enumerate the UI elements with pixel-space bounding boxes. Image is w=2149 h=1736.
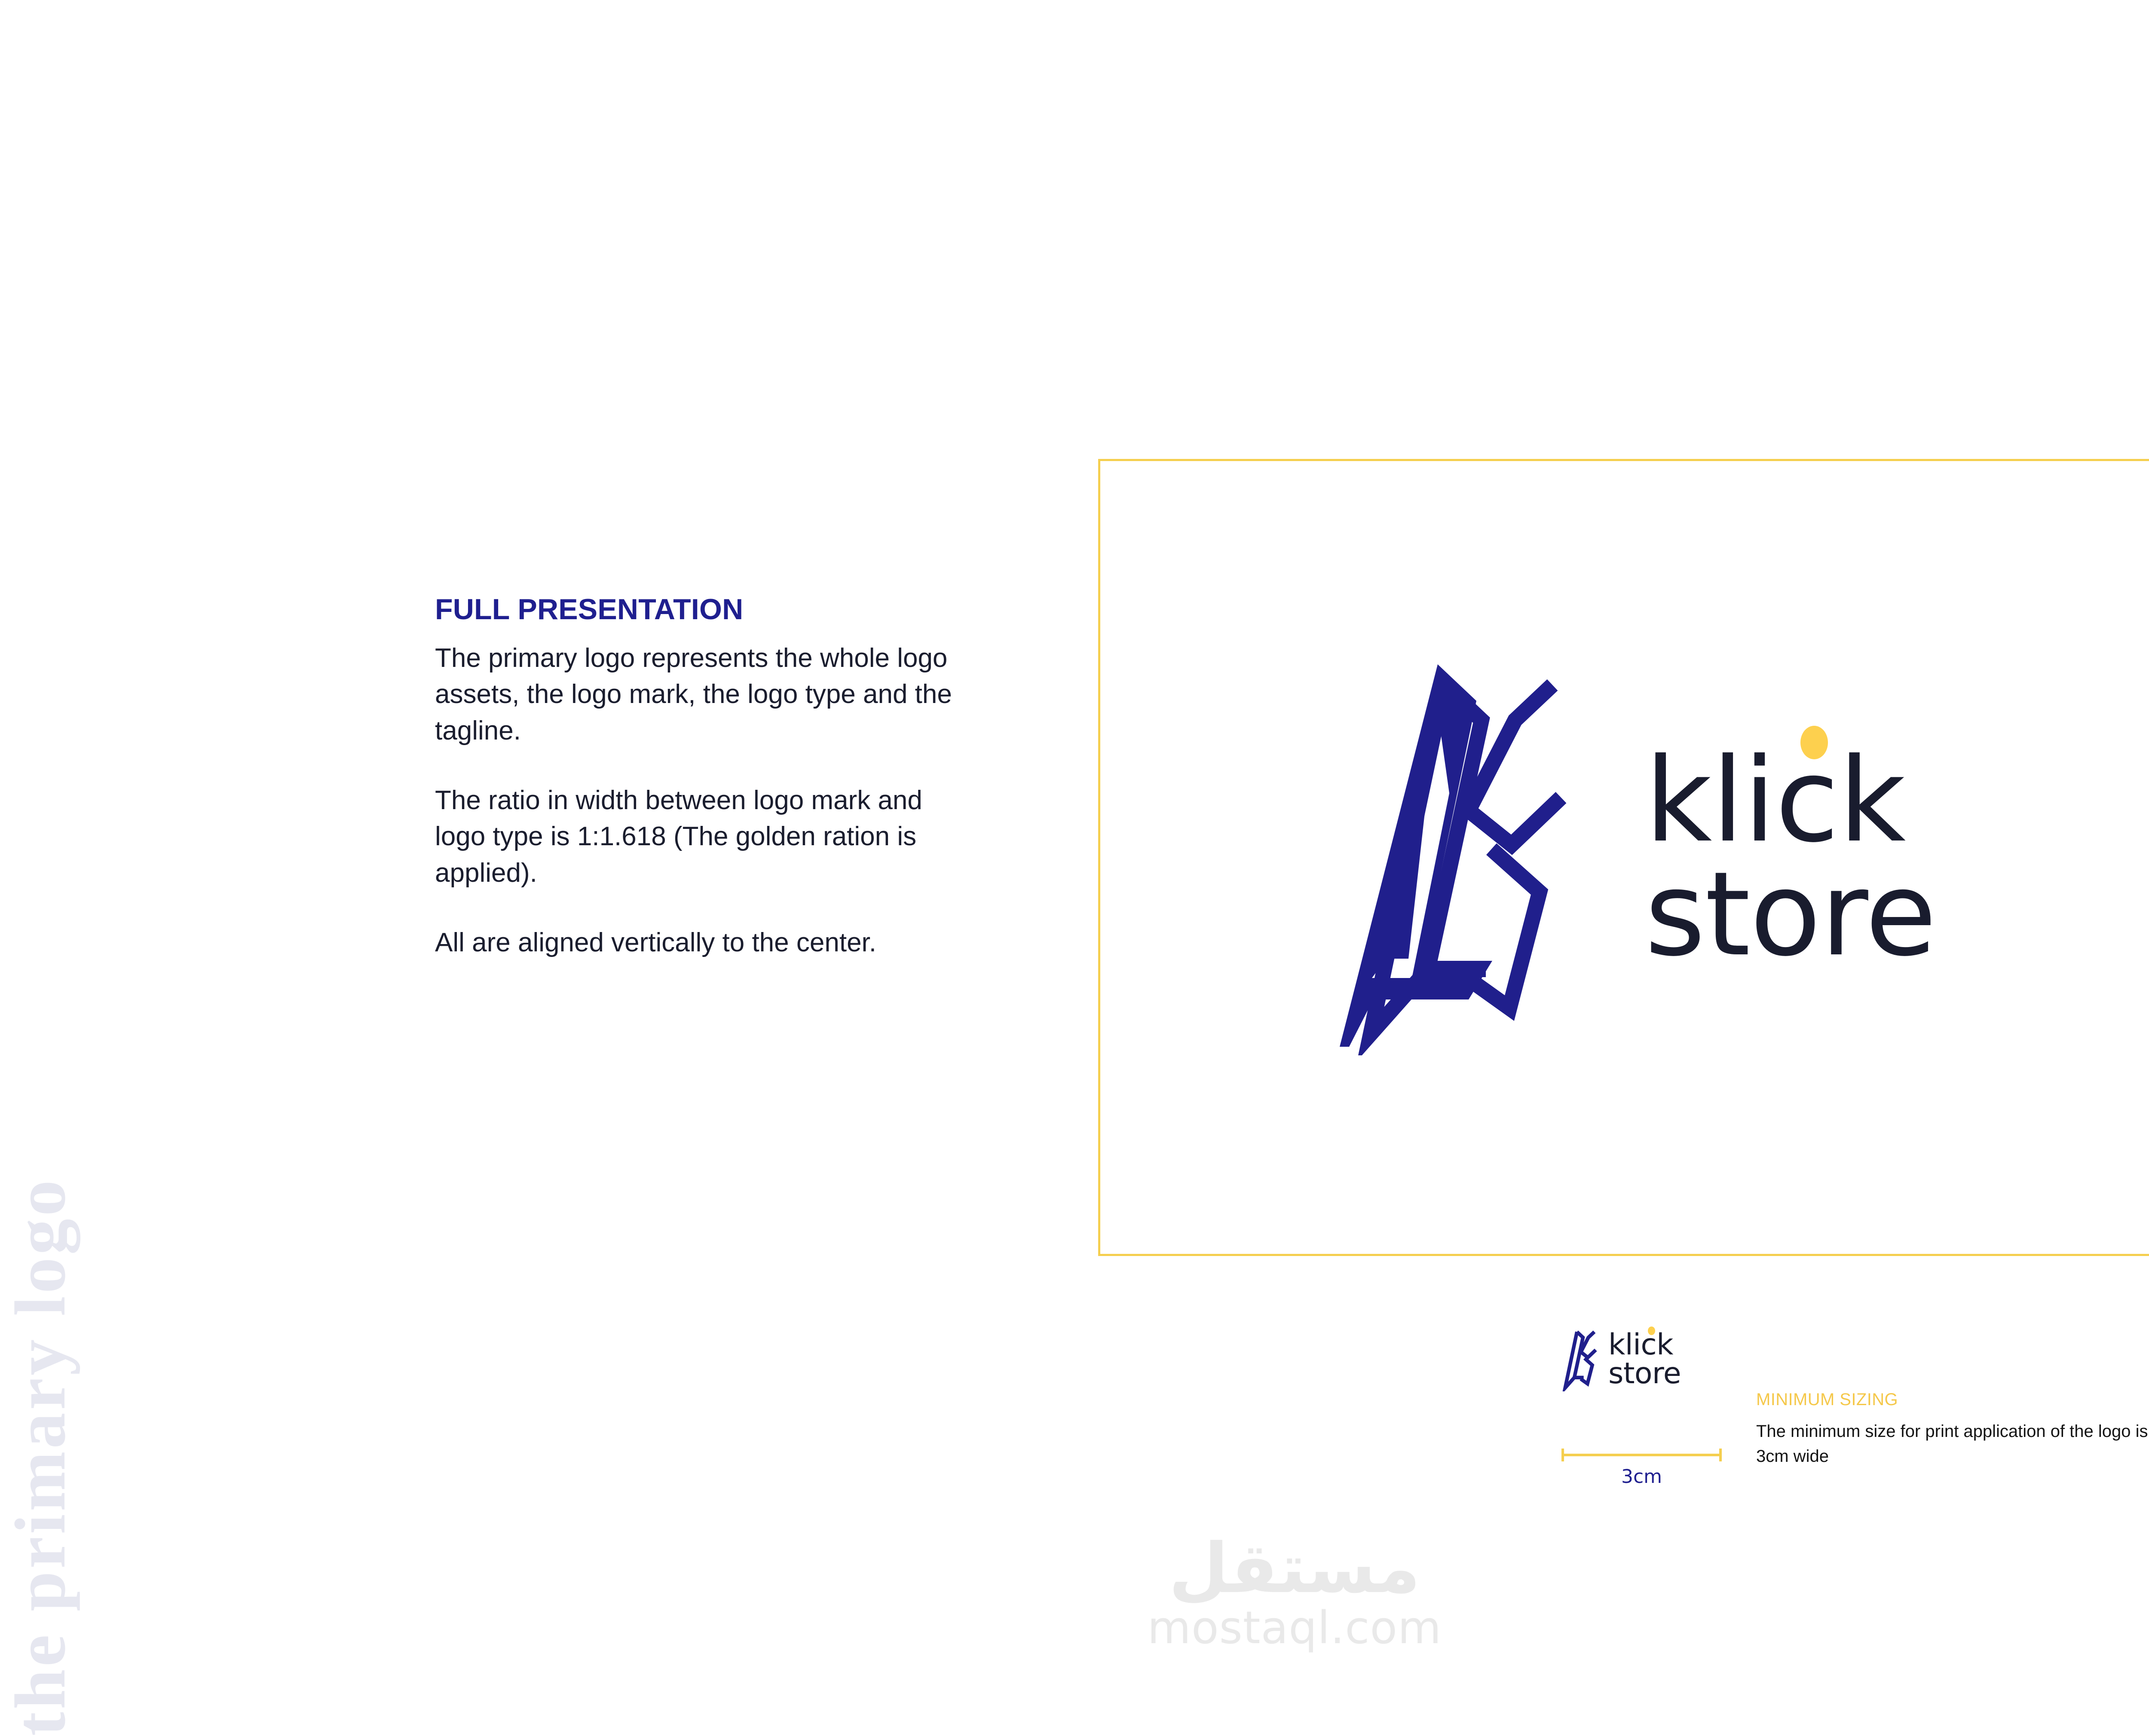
measurement-tick-left <box>1561 1449 1564 1461</box>
min-wordmark-line-store: store <box>1608 1360 1681 1388</box>
min-wordmark-line-klick: klick <box>1608 1331 1681 1360</box>
minimum-size-logo-lockup: klick store <box>1560 1328 1681 1391</box>
primary-wordmark: klick store <box>1645 744 1936 971</box>
description-column: FULL PRESENTATION The primary logo repre… <box>435 593 979 961</box>
description-paragraph-3: All are aligned vertically to the center… <box>435 925 979 961</box>
minimum-sizing-heading: MINIMUM SIZING <box>1756 1390 2149 1409</box>
primary-logo-lockup: klick store <box>1100 461 2149 1254</box>
measurement-ruler: 3cm <box>1561 1446 1722 1485</box>
minimum-size-wordmark: klick store <box>1608 1331 1681 1388</box>
primary-logo-showcase-frame: klick store <box>1098 459 2149 1256</box>
wordmark-i-dot-icon <box>1800 726 1828 759</box>
wordmark-line-klick: klick <box>1645 744 1936 858</box>
watermark-arabic-text: مستقل <box>1123 1534 1466 1603</box>
klick-k-mark-icon <box>1340 660 1580 1055</box>
minimum-sizing-text: MINIMUM SIZING The minimum size for prin… <box>1756 1390 2149 1469</box>
minimum-sizing-description: The minimum size for print application o… <box>1756 1419 2149 1469</box>
side-running-head: the primary logo <box>4 275 103 1006</box>
mostaql-watermark: مستقل mostaql.com <box>1123 1534 1466 1650</box>
description-paragraph-1: The primary logo represents the whole lo… <box>435 640 979 749</box>
description-paragraph-2: The ratio in width between logo mark and… <box>435 782 979 891</box>
measurement-tick-right <box>1719 1449 1722 1461</box>
minimum-sizing-block: klick store 3cm MINIMUM SIZING The minim… <box>1560 1328 2149 1495</box>
wordmark-line-store: store <box>1645 858 1936 972</box>
side-running-head-label: the primary logo <box>4 1006 77 1736</box>
klick-k-mark-icon-small <box>1560 1328 1599 1391</box>
measurement-line <box>1561 1454 1722 1456</box>
watermark-domain-text: mostaql.com <box>1123 1605 1466 1650</box>
page-title: FULL PRESENTATION <box>435 593 979 626</box>
measurement-label: 3cm <box>1561 1466 1722 1488</box>
